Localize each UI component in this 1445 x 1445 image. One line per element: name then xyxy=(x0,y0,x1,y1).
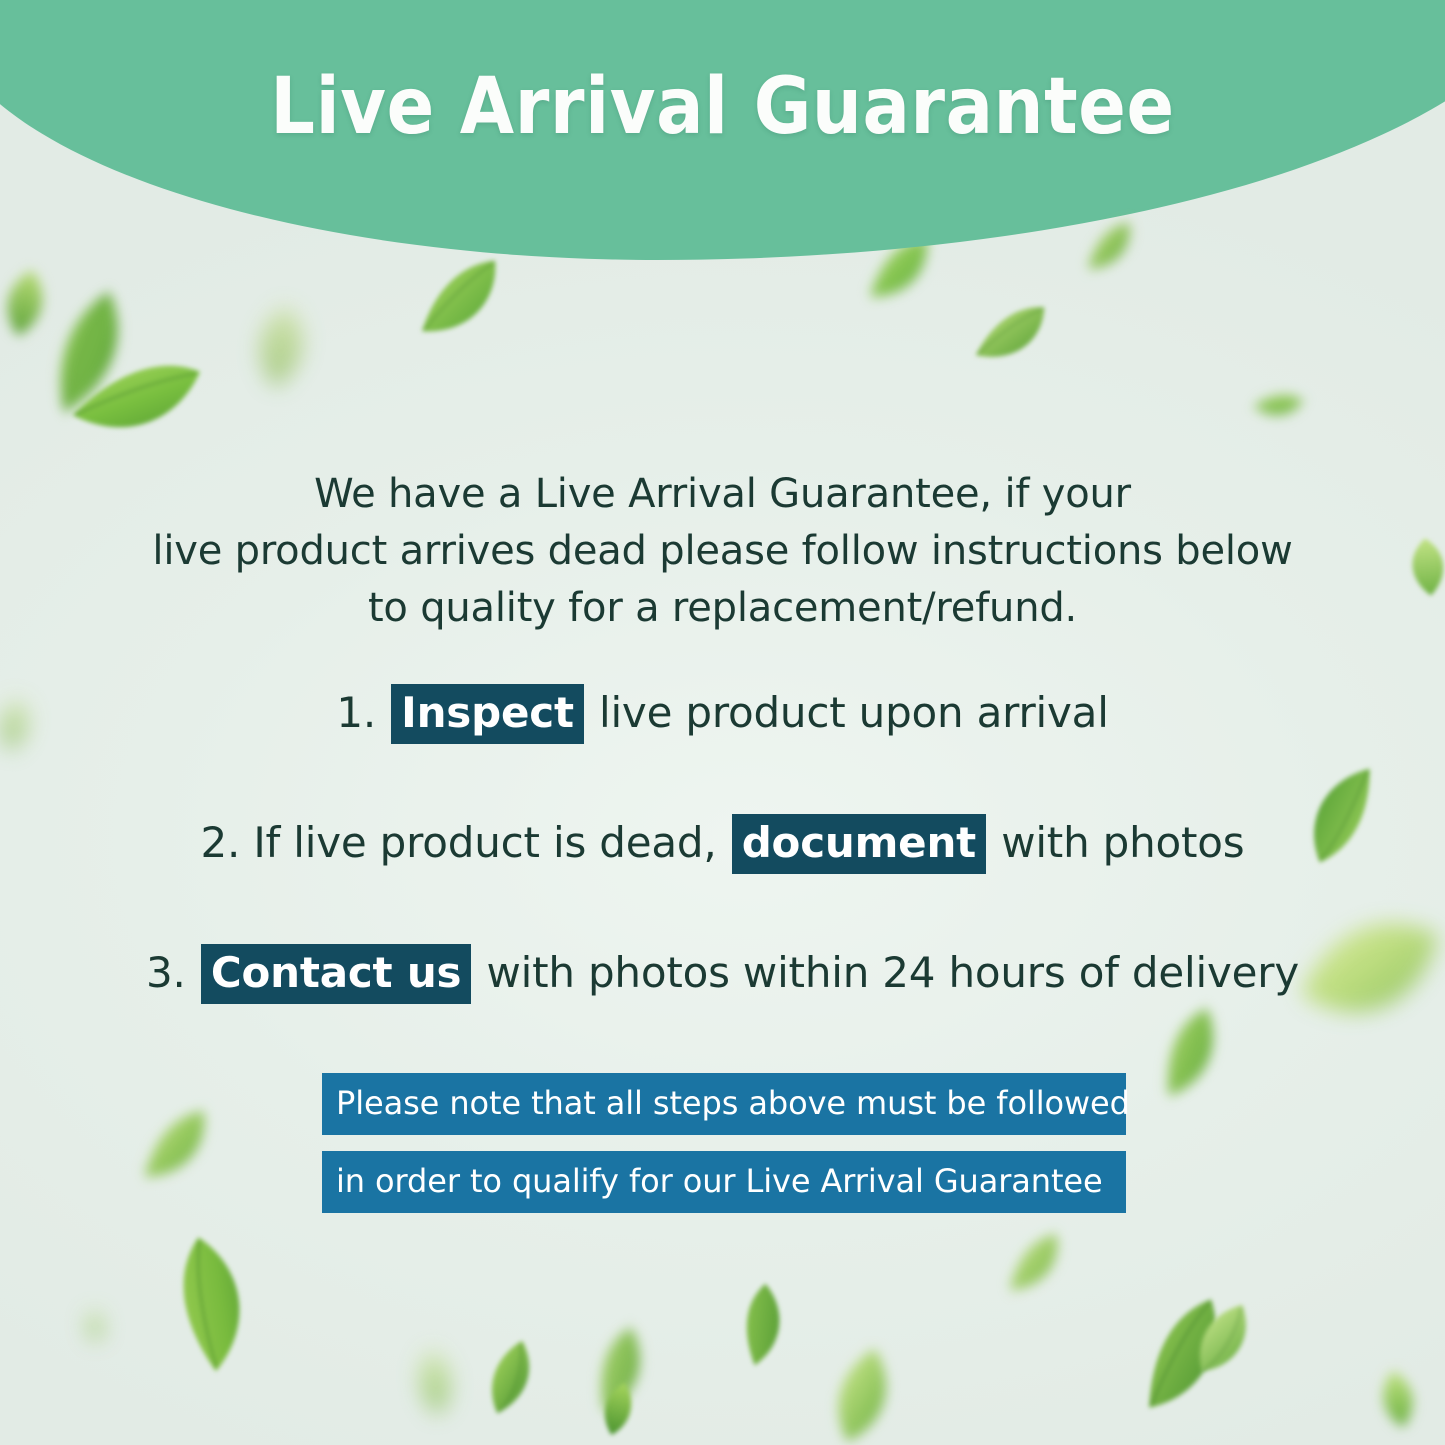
leaf-icon xyxy=(75,1277,116,1375)
step-number-3: 3. xyxy=(146,948,186,997)
note-line-1: Please note that all steps above must be… xyxy=(322,1073,1126,1135)
leaf-icon xyxy=(704,1270,822,1386)
leaf-icon xyxy=(130,1224,294,1392)
leaf-icon xyxy=(981,1221,1088,1314)
leaf-icon xyxy=(229,277,332,418)
intro-line-1: We have a Live Arrival Guarantee, if you… xyxy=(0,466,1445,523)
intro-line-2: live product arrives dead please follow … xyxy=(0,523,1445,580)
leaf-icon xyxy=(1126,995,1254,1120)
step-text-3: with photos within 24 hours of delivery xyxy=(487,948,1300,997)
step-item-2: 2. If live product is dead, document wit… xyxy=(0,814,1445,874)
page-title: Live Arrival Guarantee xyxy=(0,68,1445,146)
leaf-icon xyxy=(391,1289,479,1445)
step-text-2-before: If live product is dead, xyxy=(253,818,716,867)
intro-paragraph: We have a Live Arrival Guarantee, if you… xyxy=(0,466,1445,636)
leaf-icon xyxy=(1361,1351,1435,1445)
note-banner: Please note that all steps above must be… xyxy=(322,1073,1126,1213)
leaf-icon xyxy=(954,295,1066,383)
poster-canvas: Live Arrival Guarantee We have a Live Ar… xyxy=(0,0,1445,1445)
step-highlight-document[interactable]: document xyxy=(732,814,986,874)
steps-list: 1. Inspect live product upon arrival 2. … xyxy=(0,684,1445,1004)
leaf-icon xyxy=(801,1324,918,1445)
step-item-1: 1. Inspect live product upon arrival xyxy=(0,684,1445,744)
leaf-icon xyxy=(461,1288,556,1445)
leaf-icon xyxy=(116,1097,236,1204)
step-highlight-contact-us[interactable]: Contact us xyxy=(201,944,472,1004)
note-line-2: in order to qualify for our Live Arrival… xyxy=(322,1151,1126,1213)
step-highlight-inspect[interactable]: Inspect xyxy=(391,684,584,744)
step-text-1: live product upon arrival xyxy=(599,688,1109,737)
step-number-2: 2. xyxy=(201,818,241,867)
leaf-icon xyxy=(46,320,223,477)
leaf-icon xyxy=(1238,373,1316,440)
step-number-1: 1. xyxy=(336,688,376,737)
step-item-3: 3. Contact us with photos within 24 hour… xyxy=(0,944,1445,1004)
intro-line-3: to quality for a replacement/refund. xyxy=(0,580,1445,637)
leaf-icon xyxy=(394,247,526,359)
step-text-2-after: with photos xyxy=(1001,818,1244,867)
